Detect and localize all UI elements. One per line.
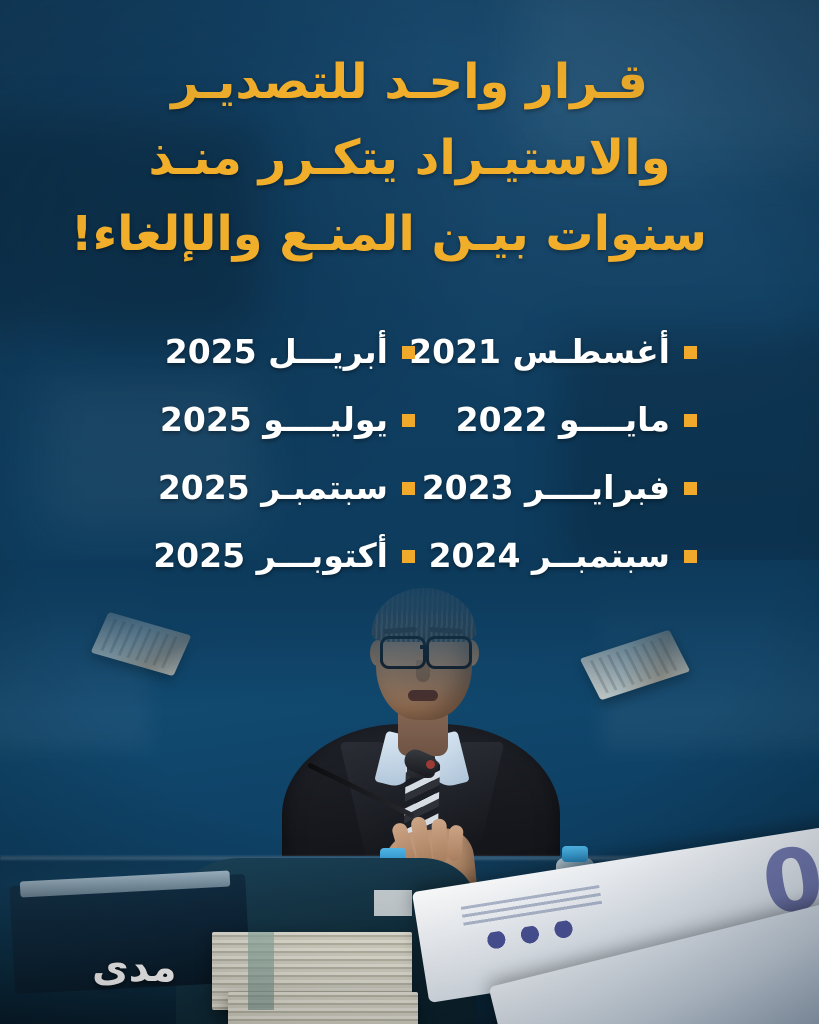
date-label: أكتوبـــر 2025 bbox=[153, 536, 388, 576]
date-label: فبرايــــر 2023 bbox=[422, 468, 670, 508]
eyeglasses-bridge bbox=[420, 645, 428, 649]
headline: قـرار واحـد للتصديـر والاستيـراد يتكـرر … bbox=[112, 44, 707, 272]
water-bottle-label-left bbox=[374, 890, 412, 916]
poster-root: قـرار واحـد للتصديـر والاستيـراد يتكـرر … bbox=[0, 0, 819, 1024]
headline-line-1: قـرار واحـد للتصديـر bbox=[112, 44, 707, 120]
banknote-engraving-lines bbox=[461, 885, 603, 929]
date-row: أغسطـس 2021 أبريـــل 2025 bbox=[122, 318, 697, 386]
headline-line-3: سنوات بيـن المنـع والإلغاء! bbox=[112, 196, 707, 272]
date-label: يوليــــو 2025 bbox=[160, 400, 388, 440]
bullet-square-icon bbox=[684, 414, 697, 427]
banknote-stack-band-1 bbox=[248, 932, 274, 1010]
date-label: سبتمبــر 2024 bbox=[429, 536, 670, 576]
brand-logo[interactable]: مدى bbox=[92, 948, 177, 988]
date-entry-right: سبتمبــر 2024 bbox=[415, 536, 697, 576]
bullet-square-icon bbox=[684, 346, 697, 359]
date-entry-right: أغسطـس 2021 bbox=[415, 332, 697, 372]
date-entry-right: مايــــو 2022 bbox=[415, 400, 697, 440]
finger bbox=[447, 825, 463, 862]
headline-line-2: والاستيـراد يتكـرر منـذ bbox=[112, 120, 707, 196]
date-label: سبتمبـر 2025 bbox=[158, 468, 388, 508]
banknote-tactile-marks bbox=[483, 919, 577, 950]
date-label: أبريـــل 2025 bbox=[165, 332, 388, 372]
nose bbox=[416, 660, 430, 682]
microphone-indicator-light bbox=[426, 760, 435, 769]
water-bottle-cap-right bbox=[562, 846, 588, 862]
date-entry-left: أبريـــل 2025 bbox=[133, 332, 415, 372]
date-list: أغسطـس 2021 أبريـــل 2025 مايــــو 2022 … bbox=[122, 318, 697, 590]
eyeglasses-lens-right bbox=[426, 636, 472, 669]
date-entry-right: فبرايــــر 2023 bbox=[415, 468, 697, 508]
bullet-square-icon bbox=[684, 550, 697, 563]
mouth bbox=[408, 690, 438, 701]
date-entry-left: أكتوبـــر 2025 bbox=[133, 536, 415, 576]
brand-wordmark: مدى bbox=[92, 948, 177, 988]
date-row: فبرايــــر 2023 سبتمبـر 2025 bbox=[122, 454, 697, 522]
bullet-square-icon bbox=[402, 482, 415, 495]
date-row: مايــــو 2022 يوليــــو 2025 bbox=[122, 386, 697, 454]
bullet-square-icon bbox=[402, 550, 415, 563]
bullet-square-icon bbox=[684, 482, 697, 495]
bullet-square-icon bbox=[402, 414, 415, 427]
date-label: أغسطـس 2021 bbox=[409, 332, 670, 372]
date-entry-left: يوليــــو 2025 bbox=[133, 400, 415, 440]
date-entry-left: سبتمبـر 2025 bbox=[133, 468, 415, 508]
finger bbox=[431, 819, 448, 863]
date-row: سبتمبــر 2024 أكتوبـــر 2025 bbox=[122, 522, 697, 590]
date-label: مايــــو 2022 bbox=[456, 400, 670, 440]
bullet-square-icon bbox=[402, 346, 415, 359]
